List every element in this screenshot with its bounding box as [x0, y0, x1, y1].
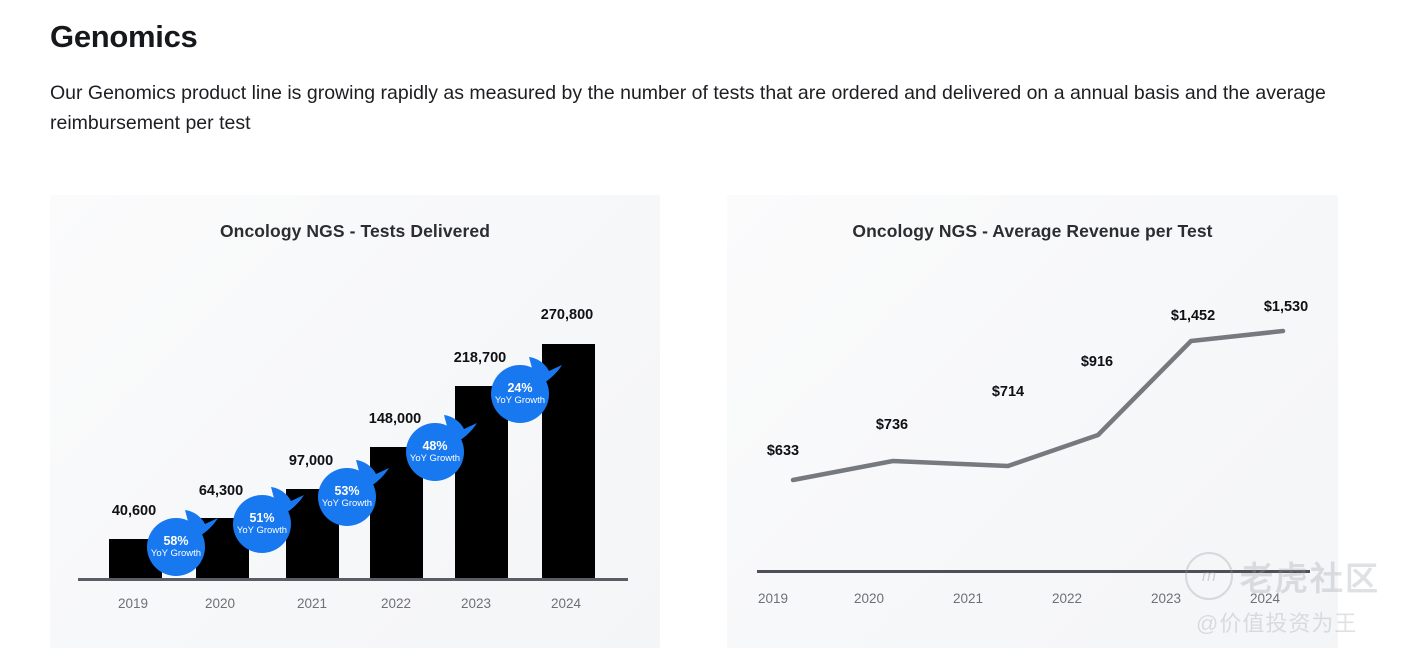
x-tick-2024: 2024	[1250, 591, 1280, 606]
yoy-badge-label: YoY Growth	[151, 549, 201, 559]
x-tick-2022: 2022	[381, 596, 411, 611]
yoy-badge-label: YoY Growth	[495, 396, 545, 406]
yoy-badge-2022-2023: 48% YoY Growth	[406, 423, 464, 481]
yoy-badge-text: 53% YoY Growth	[318, 468, 376, 526]
yoy-badge-2023-2024: 24% YoY Growth	[491, 365, 549, 423]
yoy-badge-pct: 51%	[249, 512, 274, 526]
yoy-badge-label: YoY Growth	[410, 454, 460, 464]
yoy-badge-label: YoY Growth	[322, 499, 372, 509]
yoy-badge-pct: 48%	[422, 440, 447, 454]
bar-value-2024: 270,800	[541, 307, 593, 323]
x-tick-2022: 2022	[1052, 591, 1082, 606]
chart-card-avg-revenue-per-test: Oncology NGS - Average Revenue per Test …	[727, 195, 1338, 648]
yoy-badge-text: 58% YoY Growth	[147, 518, 205, 576]
yoy-badge-text: 51% YoY Growth	[233, 495, 291, 553]
x-tick-2023: 2023	[1151, 591, 1181, 606]
x-tick-2020: 2020	[205, 596, 235, 611]
page-title: Genomics	[50, 18, 1350, 55]
yoy-badge-text: 48% YoY Growth	[406, 423, 464, 481]
yoy-badge-text: 24% YoY Growth	[491, 365, 549, 423]
yoy-badge-label: YoY Growth	[237, 526, 287, 536]
yoy-badge-pct: 24%	[507, 382, 532, 396]
line-plot-area: $633 $736 $714 $916 $1,452 $1,530 2019 2…	[727, 195, 1338, 648]
page-header: Genomics Our Genomics product line is gr…	[50, 18, 1350, 138]
yoy-badge-pct: 53%	[334, 485, 359, 499]
yoy-badge-2019-2020: 58% YoY Growth	[147, 518, 205, 576]
x-tick-2024: 2024	[551, 596, 581, 611]
x-tick-2023: 2023	[461, 596, 491, 611]
yoy-badge-2020-2021: 51% YoY Growth	[233, 495, 291, 553]
yoy-badge-2021-2022: 53% YoY Growth	[318, 468, 376, 526]
x-tick-2020: 2020	[854, 591, 884, 606]
x-axis-line	[757, 570, 1310, 573]
revenue-line-series	[727, 195, 1338, 648]
x-tick-2019: 2019	[758, 591, 788, 606]
yoy-badge-pct: 58%	[163, 535, 188, 549]
bar-plot-area: 40,600 64,300 97,000 148,000 218,700 270…	[50, 195, 660, 648]
page-subtitle: Our Genomics product line is growing rap…	[50, 79, 1340, 138]
x-tick-2021: 2021	[953, 591, 983, 606]
chart-card-tests-delivered: Oncology NGS - Tests Delivered 40,600 64…	[50, 195, 660, 648]
x-tick-2019: 2019	[118, 596, 148, 611]
x-tick-2021: 2021	[297, 596, 327, 611]
